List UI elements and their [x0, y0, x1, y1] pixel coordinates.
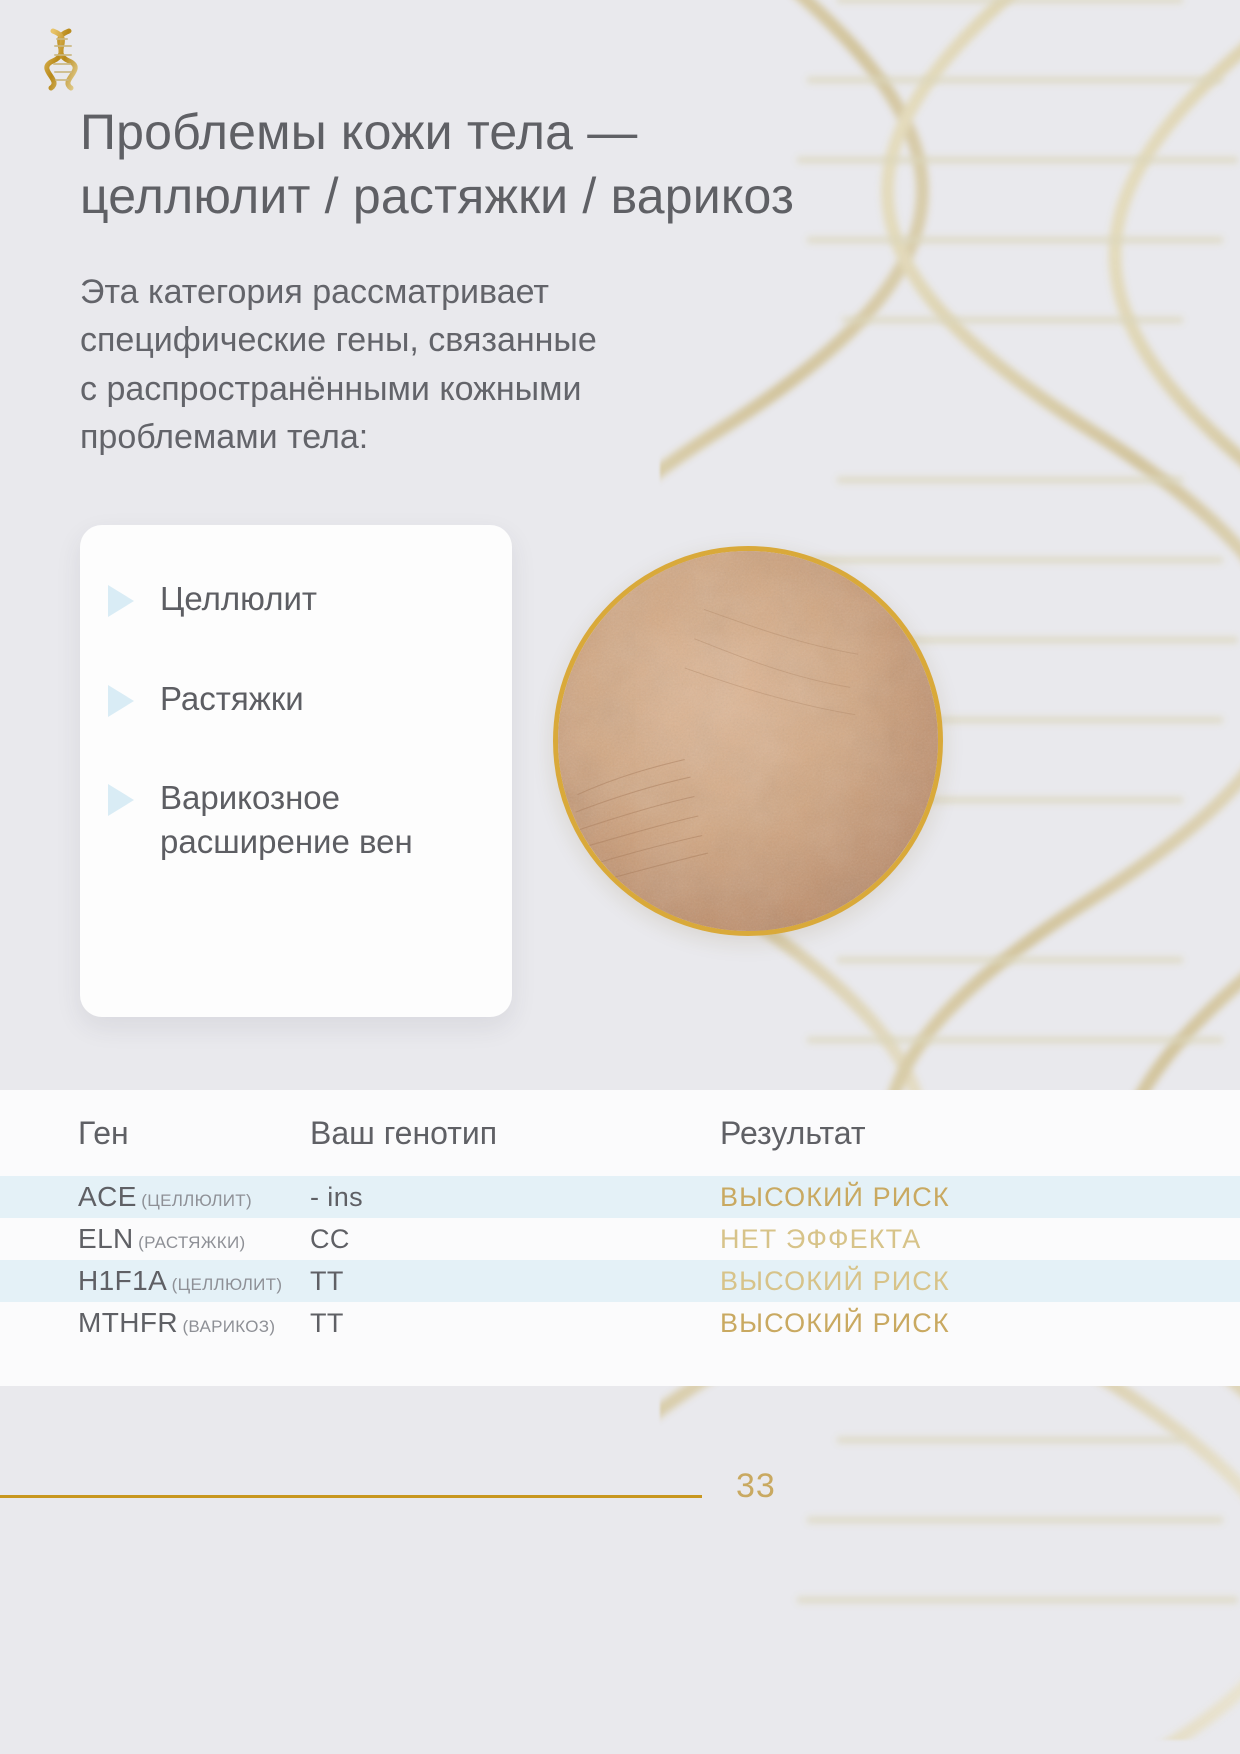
- list-item-label: Целлюлит: [160, 577, 317, 621]
- cell-gene: MTHFR (ВАРИКОЗ): [0, 1307, 310, 1339]
- page-title-line-2: целлюлит / растяжки / варикоз: [80, 164, 980, 228]
- column-header-gene: Ген: [0, 1115, 310, 1152]
- slide-page: Проблемы кожи тела — целлюлит / растяжки…: [0, 0, 1240, 1754]
- genotype-results-table: Ген Ваш генотип Результат ACE (ЦЕЛЛЮЛИТ)…: [0, 1090, 1240, 1386]
- page-title-line-1: Проблемы кожи тела —: [80, 100, 980, 164]
- table-row: ELN (РАСТЯЖКИ) CC НЕТ ЭФФЕКТА: [0, 1218, 1240, 1260]
- intro-line-1: Эта категория рассматривает: [80, 268, 840, 316]
- intro-paragraph: Эта категория рассматривает специфически…: [80, 268, 840, 461]
- list-item: Варикозное расширение вен: [108, 776, 492, 863]
- list-item: Целлюлит: [108, 577, 492, 621]
- gene-note: (ВАРИКОЗ): [182, 1317, 275, 1336]
- gene-name: ELN: [78, 1223, 134, 1254]
- table-row: ACE (ЦЕЛЛЮЛИТ) - ins ВЫСОКИЙ РИСК: [0, 1176, 1240, 1218]
- cell-result: НЕТ ЭФФЕКТА: [720, 1224, 1240, 1255]
- cell-gene: ACE (ЦЕЛЛЮЛИТ): [0, 1181, 310, 1213]
- intro-line-2: специфические гены, связанные: [80, 316, 840, 364]
- gene-name: H1F1A: [78, 1265, 167, 1296]
- list-item-label: Растяжки: [160, 677, 304, 721]
- list-item-label: Варикозное расширение вен: [160, 776, 492, 863]
- triangle-bullet-icon: [108, 685, 134, 717]
- skin-photo: [553, 546, 943, 936]
- cell-gene: ELN (РАСТЯЖКИ): [0, 1223, 310, 1255]
- cell-result: ВЫСОКИЙ РИСК: [720, 1308, 1240, 1339]
- footer-rule: [0, 1495, 702, 1498]
- gene-name: MTHFR: [78, 1307, 178, 1338]
- conditions-list: Целлюлит Растяжки Варикозное расширение …: [108, 577, 492, 863]
- list-item: Растяжки: [108, 677, 492, 721]
- intro-line-4: проблемами тела:: [80, 413, 840, 461]
- intro-line-3: с распространёнными кожными: [80, 365, 840, 413]
- cell-genotype: CC: [310, 1224, 720, 1255]
- cell-gene: H1F1A (ЦЕЛЛЮЛИТ): [0, 1265, 310, 1297]
- gene-note: (РАСТЯЖКИ): [138, 1233, 245, 1252]
- page-number: 33: [736, 1467, 776, 1506]
- triangle-bullet-icon: [108, 585, 134, 617]
- gene-name: ACE: [78, 1181, 137, 1212]
- skin-photo-image: [558, 551, 938, 931]
- conditions-card: Целлюлит Растяжки Варикозное расширение …: [80, 525, 512, 1017]
- table-bottom-spacer: [0, 1344, 1240, 1386]
- column-header-result: Результат: [720, 1115, 1240, 1152]
- cell-result: ВЫСОКИЙ РИСК: [720, 1266, 1240, 1297]
- table-header-row: Ген Ваш генотип Результат: [0, 1090, 1240, 1176]
- dna-helix-icon: [33, 22, 89, 94]
- gene-note: (ЦЕЛЛЮЛИТ): [172, 1275, 283, 1294]
- triangle-bullet-icon: [108, 784, 134, 816]
- table-row: MTHFR (ВАРИКОЗ) TT ВЫСОКИЙ РИСК: [0, 1302, 1240, 1344]
- page-title: Проблемы кожи тела — целлюлит / растяжки…: [80, 100, 980, 228]
- cell-genotype: - ins: [310, 1182, 720, 1213]
- table-row: H1F1A (ЦЕЛЛЮЛИТ) TT ВЫСОКИЙ РИСК: [0, 1260, 1240, 1302]
- cell-result: ВЫСОКИЙ РИСК: [720, 1182, 1240, 1213]
- column-header-genotype: Ваш генотип: [310, 1115, 720, 1152]
- cell-genotype: TT: [310, 1266, 720, 1297]
- gene-note: (ЦЕЛЛЮЛИТ): [141, 1191, 252, 1210]
- table-body: ACE (ЦЕЛЛЮЛИТ) - ins ВЫСОКИЙ РИСК ELN (Р…: [0, 1176, 1240, 1386]
- cell-genotype: TT: [310, 1308, 720, 1339]
